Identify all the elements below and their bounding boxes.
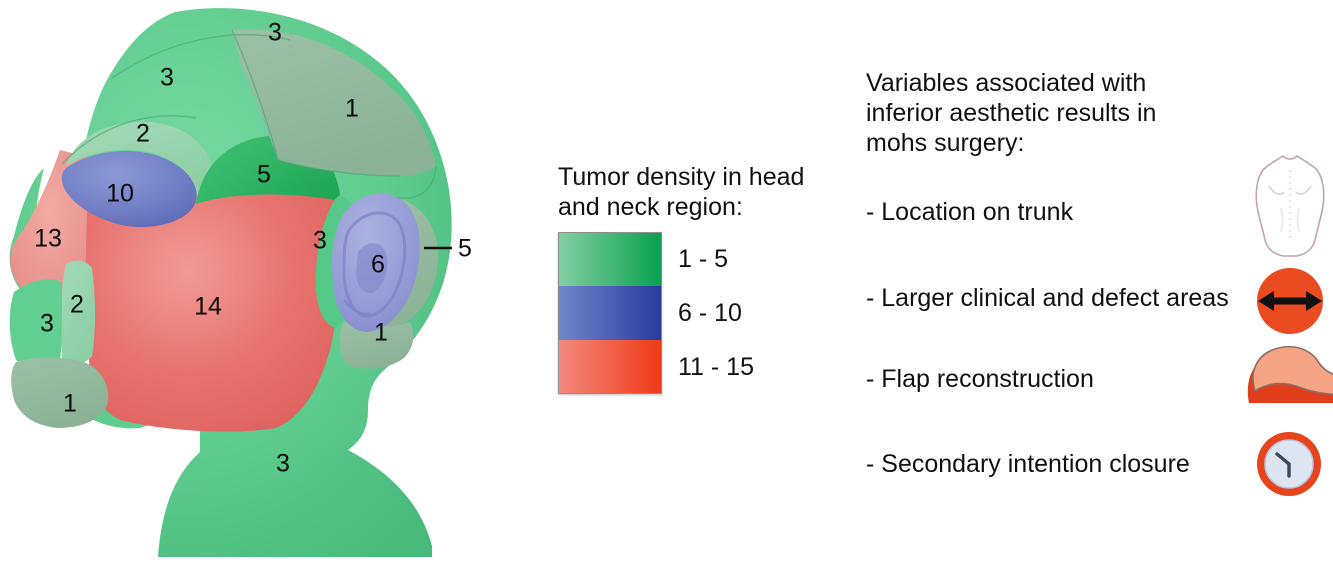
swatch-band-6-10 xyxy=(559,286,661,339)
legend-body: 1 - 5 6 - 10 11 - 15 xyxy=(558,232,858,394)
legend-label-11-15: 11 - 15 xyxy=(678,340,754,394)
trunk-silhouette-icon xyxy=(1247,150,1333,260)
head-diagram: 3 3 1 2 5 10 13 3 5 6 2 14 3 1 1 3 xyxy=(0,0,520,557)
variable-item-location-on-trunk: - Location on trunk xyxy=(866,198,1073,227)
head-diagram-svg xyxy=(0,0,520,557)
legend-label-1-5: 1 - 5 xyxy=(678,232,754,286)
swatch-band-11-15 xyxy=(559,340,661,393)
legend-label-6-10: 6 - 10 xyxy=(678,286,754,340)
legend-labels: 1 - 5 6 - 10 11 - 15 xyxy=(678,232,754,394)
swatch-band-1-5 xyxy=(559,233,661,286)
lip-region-3 xyxy=(10,279,62,368)
double-arrow-circle-icon xyxy=(1254,265,1326,337)
legend-color-swatch xyxy=(558,232,662,394)
legend-title: Tumor density in head and neck region: xyxy=(558,162,850,222)
variables-heading: Variables associated with inferior aesth… xyxy=(866,68,1216,158)
variables-panel: Variables associated with inferior aesth… xyxy=(866,68,1333,158)
variable-item-secondary-intention: - Secondary intention closure xyxy=(866,450,1190,479)
variable-item-larger-areas: - Larger clinical and defect areas xyxy=(866,284,1229,313)
legend: Tumor density in head and neck region: 1… xyxy=(558,162,858,394)
variable-item-flap-reconstruction: - Flap reconstruction xyxy=(866,365,1094,394)
skin-flap-icon xyxy=(1241,343,1333,418)
chin-region-1 xyxy=(11,358,108,429)
nasolabial-region-2 xyxy=(61,261,95,364)
clock-icon xyxy=(1254,429,1324,499)
